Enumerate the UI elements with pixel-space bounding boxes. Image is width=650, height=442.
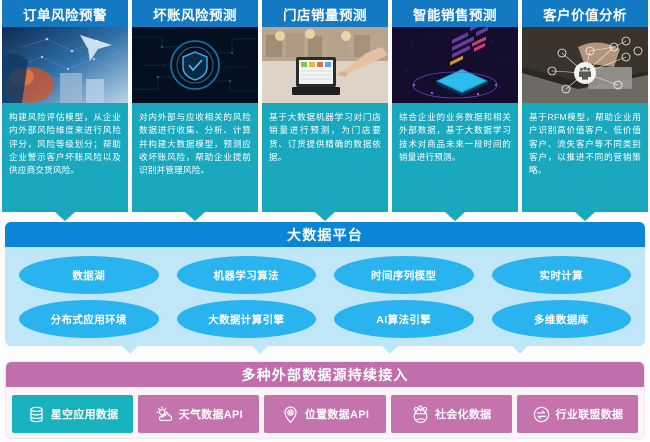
source-chip-label: 位置数据API xyxy=(305,406,369,422)
source-chip-weather-data-api[interactable]: 天气数据API xyxy=(138,395,259,433)
platform-pill-bigdata-engine[interactable]: 大数据计算引擎 xyxy=(177,300,317,338)
capability-card-bad-debt[interactable]: 坏账风险预测 xyxy=(132,0,258,212)
capability-cards-row: 订单风险预警 xyxy=(0,0,650,212)
social-network-icon xyxy=(411,405,430,424)
platform-capability-grid: 数据湖 机器学习算法 时间序列模型 实时计算 分布式应用环境 大数据计算引擎 A… xyxy=(5,247,645,346)
card-description: 基于RFM模型，帮助企业用户识别高价值客户、低价值客户、流失客户等不同类别客户，… xyxy=(522,103,648,212)
exchange-arrows-icon xyxy=(532,405,551,424)
card-pointer-arrow xyxy=(55,212,75,221)
card-title: 客户价值分析 xyxy=(522,0,648,27)
database-stack-icon xyxy=(27,405,46,424)
source-chip-industry-alliance-data[interactable]: 行业联盟数据 xyxy=(517,395,638,433)
map-pin-icon xyxy=(281,405,300,424)
platform-pointer-arrow xyxy=(251,345,269,354)
laptop-analytics-photo xyxy=(392,27,518,103)
big-data-platform-panel: 大数据平台 数据湖 机器学习算法 时间序列模型 实时计算 分布式应用环境 大数据… xyxy=(5,222,645,346)
customer-network-photo xyxy=(522,27,648,103)
card-title: 门店销量预测 xyxy=(262,0,388,27)
source-chip-label: 星空应用数据 xyxy=(51,406,119,422)
platform-pointer-arrows xyxy=(5,345,645,354)
card-pointer-arrow xyxy=(575,212,595,221)
card-description: 综合企业的业务数据和相关外部数据，基于大数据学习技术对商品未来一段时间的销量进行… xyxy=(392,103,518,212)
platform-title: 大数据平台 xyxy=(5,222,645,247)
source-chip-starry-sky-app-data[interactable]: 星空应用数据 xyxy=(12,395,133,433)
capability-card-store-sales[interactable]: 门店销量预测 xyxy=(262,0,388,212)
card-title: 坏账风险预测 xyxy=(132,0,258,27)
card-pointer-arrow xyxy=(445,212,465,221)
sources-chip-row: 星空应用数据 天气数据API xyxy=(6,387,644,439)
platform-pill-distributed-env[interactable]: 分布式应用环境 xyxy=(19,300,159,338)
source-chip-social-data[interactable]: 社会化数据 xyxy=(391,395,512,433)
platform-pill-ai-engine[interactable]: AI算法引擎 xyxy=(334,300,474,338)
capability-card-order-risk[interactable]: 订单风险预警 xyxy=(2,0,128,212)
infographic-page: 订单风险预警 xyxy=(0,0,650,442)
capability-card-sales-forecast[interactable]: 智能销售预测 xyxy=(392,0,518,212)
platform-pointer-arrow xyxy=(511,345,529,354)
platform-pill-ml-algorithm[interactable]: 机器学习算法 xyxy=(177,256,317,294)
card-title: 订单风险预警 xyxy=(2,0,128,27)
platform-pill-time-series-model[interactable]: 时间序列模型 xyxy=(334,256,474,294)
platform-pill-realtime-compute[interactable]: 实时计算 xyxy=(492,256,632,294)
external-data-sources-panel: 多种外部数据源持续接入 星空应用数据 xyxy=(5,361,645,439)
source-chip-label: 天气数据API xyxy=(179,406,243,422)
sources-title: 多种外部数据源持续接入 xyxy=(6,362,644,387)
store-pos-photo xyxy=(262,27,388,103)
source-chip-label: 行业联盟数据 xyxy=(556,406,624,422)
platform-pill-data-lake[interactable]: 数据湖 xyxy=(19,256,159,294)
capability-card-customer-value[interactable]: 客户价值分析 xyxy=(522,0,648,212)
card-title: 智能销售预测 xyxy=(392,0,518,27)
card-description: 基于大数据机器学习对门店销量进行预测，为门店要货、订货提供精确的数据依据。 xyxy=(262,103,388,212)
card-pointer-arrow xyxy=(315,212,335,221)
order-risk-photo xyxy=(2,27,128,103)
bad-debt-shield-photo xyxy=(132,27,258,103)
card-description: 构建风险评估模型，从企业内外部风险维度来进行风险评分，风险等级划分；帮助企业警示… xyxy=(2,103,128,212)
sun-cloud-icon xyxy=(155,405,174,424)
card-description: 对内外部与应收相关的风险数据进行收集、分析、计算并构建大数据模型，预测应收坏账风… xyxy=(132,103,258,212)
source-chip-label: 社会化数据 xyxy=(435,406,492,422)
card-pointer-arrow xyxy=(185,212,205,221)
source-chip-location-data-api[interactable]: 位置数据API xyxy=(264,395,385,433)
platform-pointer-arrow xyxy=(121,345,139,354)
platform-pill-multidim-db[interactable]: 多维数据库 xyxy=(492,300,632,338)
platform-pointer-arrow xyxy=(381,345,399,354)
